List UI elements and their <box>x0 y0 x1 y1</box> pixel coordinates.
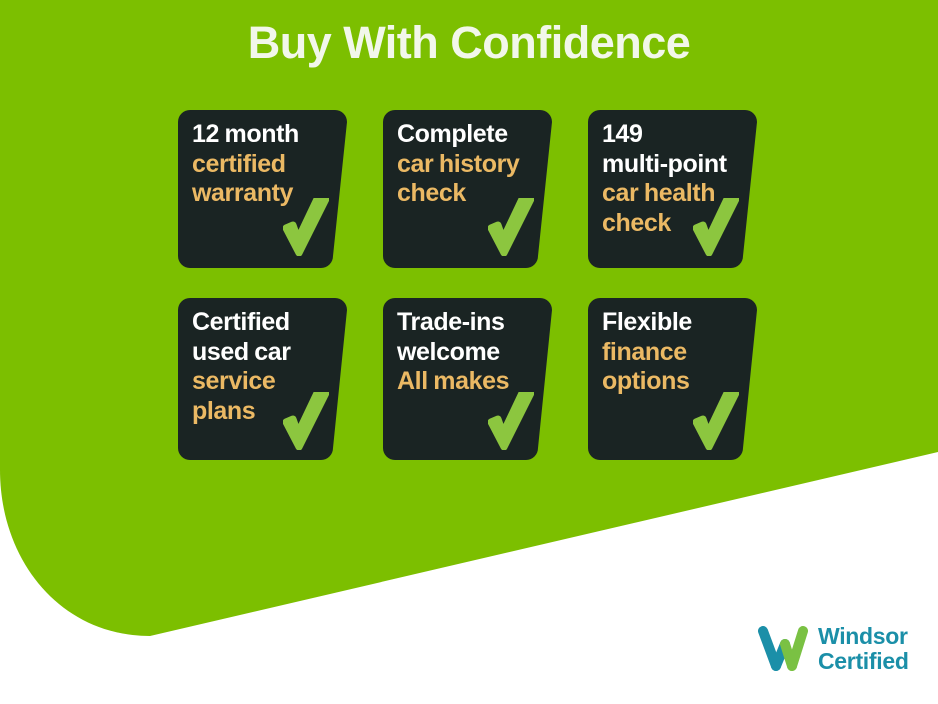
card-line-white: Complete <box>397 120 530 150</box>
check-mark-icon <box>283 198 329 256</box>
benefit-card-text: 12 month certified warranty <box>192 120 325 209</box>
benefit-card-health-check[interactable]: 149 multi-point car health check <box>588 110 757 268</box>
benefit-card-finance[interactable]: Flexible finance options <box>588 298 757 460</box>
windsor-certified-logo[interactable]: Windsor Certified <box>757 624 909 674</box>
benefit-card-warranty[interactable]: 12 month certified warranty <box>178 110 347 268</box>
card-line-white: used car <box>192 338 325 368</box>
page-title: Buy With Confidence <box>0 16 938 70</box>
promo-banner: Buy With Confidence 12 month certified w… <box>0 0 938 704</box>
card-line-white: Trade-ins <box>397 308 530 338</box>
benefit-card-row-2: Certified used car service plans Trade-i… <box>178 298 758 460</box>
benefit-card-grid: 12 month certified warranty Complete car… <box>178 110 758 490</box>
check-mark-icon <box>693 392 739 450</box>
logo-line-certified: Certified <box>818 649 909 674</box>
card-line-tan: car history <box>397 150 530 180</box>
card-line-white: Certified <box>192 308 325 338</box>
logo-wordmark: Windsor Certified <box>818 624 909 674</box>
benefit-card-text: Trade-ins welcome All makes <box>397 308 530 397</box>
card-line-tan: certified <box>192 150 325 180</box>
check-mark-icon <box>488 392 534 450</box>
logo-line-windsor: Windsor <box>818 624 909 649</box>
benefit-card-history-check[interactable]: Complete car history check <box>383 110 552 268</box>
windsor-w-mark-icon <box>757 626 809 672</box>
benefit-card-service-plans[interactable]: Certified used car service plans <box>178 298 347 460</box>
benefit-card-row-1: 12 month certified warranty Complete car… <box>178 110 758 268</box>
benefit-card-trade-ins[interactable]: Trade-ins welcome All makes <box>383 298 552 460</box>
card-line-tan: finance <box>602 338 735 368</box>
check-mark-icon <box>693 198 739 256</box>
card-line-white: 149 <box>602 120 735 150</box>
benefit-card-text: Flexible finance options <box>602 308 735 397</box>
card-line-white: multi-point <box>602 150 735 180</box>
card-line-white: welcome <box>397 338 530 368</box>
card-line-white: Flexible <box>602 308 735 338</box>
benefit-card-text: Complete car history check <box>397 120 530 209</box>
card-line-white: 12 month <box>192 120 325 150</box>
check-mark-icon <box>283 392 329 450</box>
check-mark-icon <box>488 198 534 256</box>
